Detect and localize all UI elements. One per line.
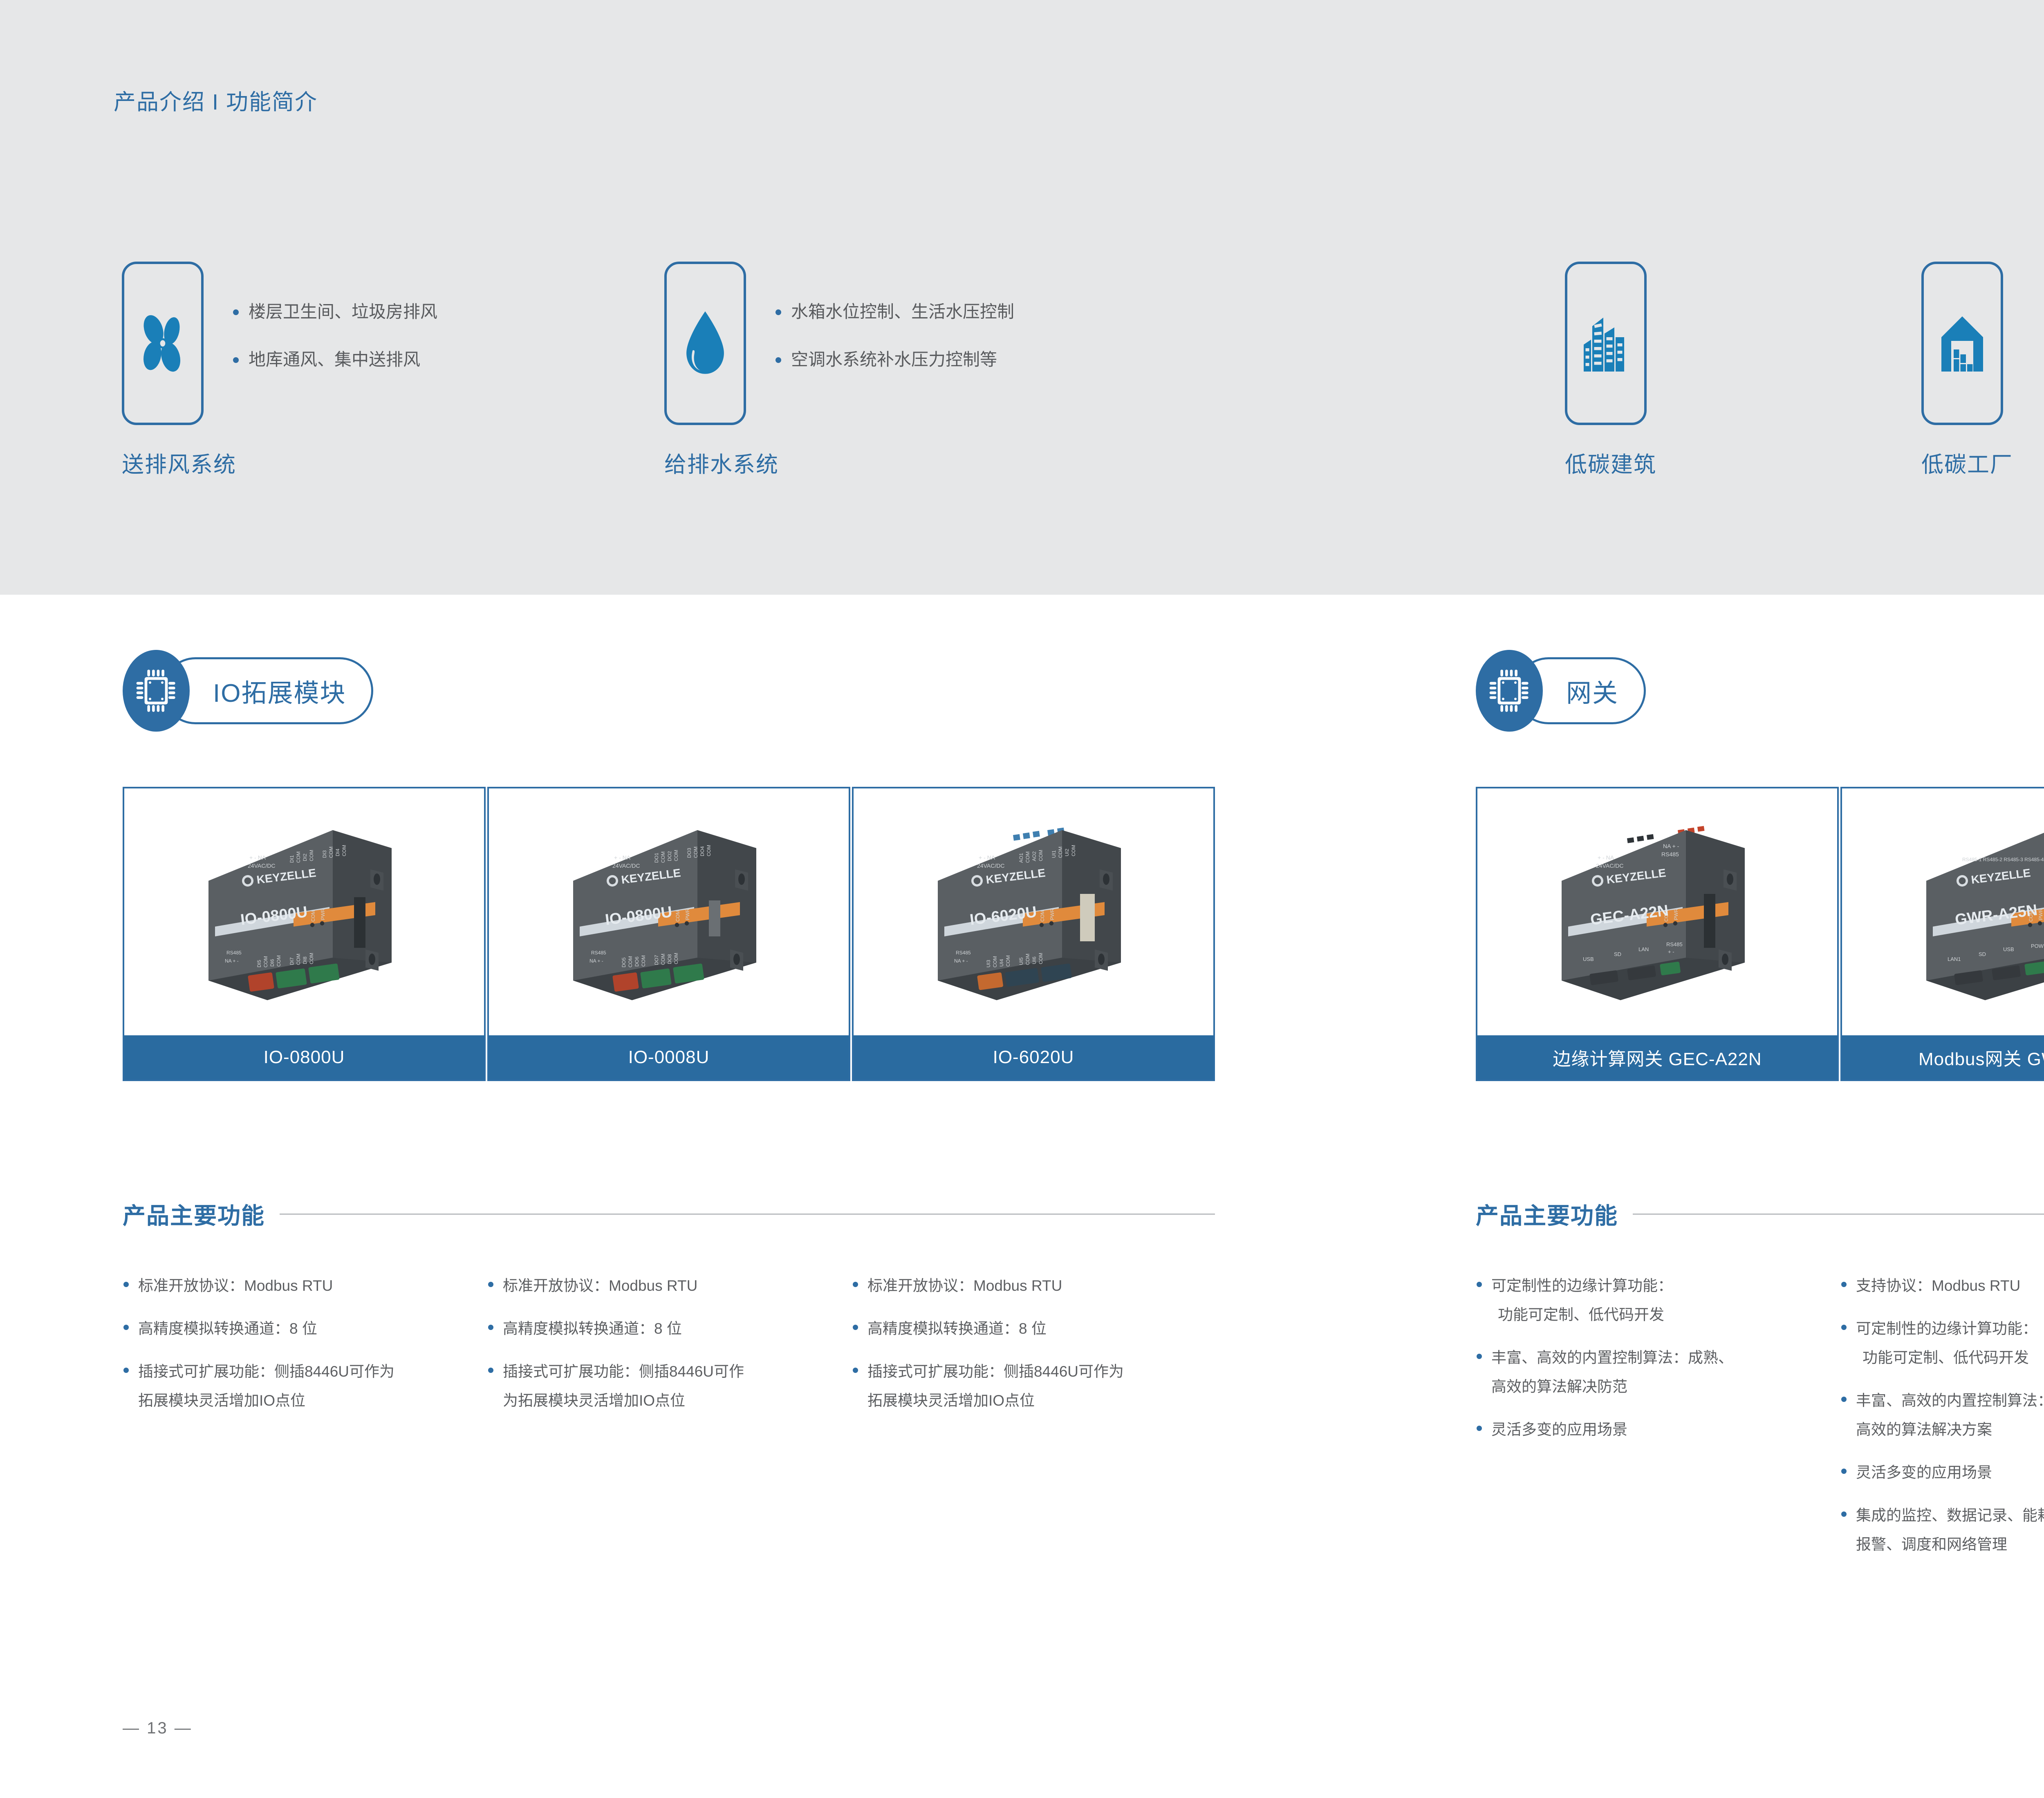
product-image: RS485-1 RS485-2 RS485-3 RS485-4 LAN1 SD … [1842, 788, 2044, 1035]
list-item: 可定制性的边缘计算功能： 功能可定制、低代码开发 [1840, 1314, 2044, 1372]
svg-text:COM: COM [992, 956, 998, 967]
svg-text:COM: COM [1038, 850, 1044, 861]
svg-text:POWER: POWER [2031, 943, 2044, 949]
list-item: 地库通风、集中送排风 [231, 346, 437, 373]
office-buildings-icon [1580, 313, 1632, 374]
svg-text:COM: COM [296, 954, 301, 965]
svg-text:COM: COM [660, 851, 666, 863]
list-item: 灵活多变的应用场景 [1476, 1415, 1836, 1444]
svg-text:UI4: UI4 [999, 959, 1004, 967]
svg-text:LAN: LAN [1638, 946, 1649, 952]
brochure-page: 产品介绍 I 功能简介 产品介绍 I 功能简介 楼层卫生间、垃圾房排风 地库通风… [0, 0, 2044, 1798]
list-item-line: 插接式可扩展功能：侧插8446U可作为 [138, 1357, 482, 1386]
chip-icon [136, 668, 177, 713]
scenario-ventilation-bullets: 楼层卫生间、垃圾房排风 地库通风、集中送排风 [231, 298, 437, 394]
list-item-line: 高效的算法解决方案 [1856, 1415, 2044, 1444]
fan-icon [134, 311, 191, 376]
svg-text:+ - NA: + - NA [249, 854, 266, 861]
svg-text:COM: COM [309, 850, 314, 861]
list-item-line: 拓展模块灵活增加IO点位 [867, 1386, 1212, 1415]
list-item-line: 高效的算法解决防范 [1491, 1372, 1836, 1401]
device-photo-io-6020u: + - NA 24VAC/DC RS485 NA + - AO1 COM AO2… [899, 806, 1168, 1018]
section-badge-pill-io: IO拓展模块 [162, 657, 373, 724]
svg-text:DI8: DI8 [302, 956, 308, 964]
list-item-line: 拓展模块灵活增加IO点位 [138, 1386, 482, 1415]
fan-icon-frame [122, 262, 204, 425]
list-item: 空调水系统补水压力控制等 [774, 346, 1014, 373]
list-item: 集成的监控、数据记录、能耗计量、 报警、调度和网络管理 [1840, 1501, 2044, 1559]
page-header-left: 产品介绍 I 功能简介 [114, 84, 318, 116]
svg-text:COM: COM [641, 955, 646, 967]
product-image: + - NA 24VAC/DC RS485 NA + - DO1 COM DO2… [489, 788, 849, 1035]
svg-text:DO5: DO5 [621, 957, 627, 967]
svg-text:NA + -: NA + - [589, 958, 603, 964]
svg-text:24VAC/DC: 24VAC/DC [977, 862, 1004, 869]
svg-text:COM: COM [673, 953, 679, 964]
features-title: 产品主要功能 [123, 1198, 265, 1231]
svg-text:24VAC/DC: 24VAC/DC [248, 862, 275, 869]
svg-text:DO6: DO6 [634, 956, 640, 967]
category-building-caption: 低碳建筑 [1565, 446, 1656, 479]
svg-text:24VAC/DC: 24VAC/DC [612, 862, 640, 869]
section-badge-label: 网关 [1566, 672, 1618, 709]
svg-text:RS485: RS485 [226, 950, 242, 956]
divider [1633, 1214, 2044, 1215]
svg-text:PWR: PWR [2038, 909, 2044, 920]
feature-column: 可定制性的边缘计算功能： 功能可定制、低代码开发 丰富、高效的内置控制算法：成熟… [1476, 1271, 1836, 1458]
svg-text:PWR: PWR [1673, 909, 1679, 920]
list-item-line: 为拓展模块灵活增加IO点位 [503, 1386, 847, 1415]
svg-text:USB: USB [1583, 956, 1594, 962]
product-card[interactable]: + - NA 24VAC/DC RS485 NA + - DO1 COM DO2… [487, 787, 850, 1081]
list-item: 标准开放协议：Modbus RTU [487, 1271, 847, 1300]
svg-text:COM: COM [1025, 954, 1031, 965]
list-item: 丰富、高效的内置控制算法：成熟、 高效的算法解决防范 [1476, 1343, 1836, 1401]
svg-text:DO4: DO4 [699, 846, 705, 856]
list-item-line: 插接式可扩展功能：侧插8446U可作 [503, 1357, 847, 1386]
list-item: 高精度模拟转换通道：8 位 [123, 1314, 482, 1343]
list-item: 标准开放协议：Modbus RTU [123, 1271, 482, 1300]
product-label: IO-6020U [854, 1035, 1213, 1079]
device-photo-io-0800u: + - NA 24VAC/DC RS485 NA + - DI1 COM DI2… [169, 806, 439, 1018]
device-photo-gec-a22n: + - NA 24VAC/DC NA + - RS485 USB SD LAN … [1522, 806, 1792, 1018]
product-card[interactable]: + - NA 24VAC/DC NA + - RS485 USB SD LAN … [1476, 787, 1839, 1081]
svg-text:COM: COM [706, 845, 712, 856]
svg-text:USB: USB [2003, 946, 2014, 952]
list-item-line: 可定制性的边缘计算功能： [1856, 1314, 2044, 1343]
svg-text:COM: COM [309, 953, 314, 964]
svg-text:NA + -: NA + - [225, 958, 239, 964]
svg-text:UI6: UI6 [1031, 956, 1037, 964]
svg-text:PWR: PWR [685, 909, 690, 920]
product-label: IO-0008U [489, 1035, 849, 1079]
svg-text:UI2: UI2 [1064, 849, 1070, 856]
list-item: 支持协议：Modbus RTU [1840, 1271, 2044, 1300]
svg-text:COM: COM [673, 850, 679, 861]
svg-text:COM: COM [328, 846, 334, 858]
svg-text:DI5: DI5 [256, 960, 262, 967]
chip-circle [1476, 650, 1543, 732]
svg-text:PWR: PWR [320, 909, 326, 920]
svg-text:DO8: DO8 [667, 954, 672, 964]
svg-text:COM: COM [1071, 845, 1076, 856]
svg-text:COM: COM [263, 956, 269, 967]
list-item-line: 集成的监控、数据记录、能耗计量、 [1856, 1501, 2044, 1530]
feature-column: 标准开放协议：Modbus RTU 高精度模拟转换通道：8 位 插接式可扩展功能… [852, 1271, 1212, 1429]
svg-text:DI2: DI2 [302, 853, 308, 861]
svg-text:+ - NA: + - NA [1598, 854, 1614, 861]
svg-text:NA + -: NA + - [1663, 843, 1679, 849]
list-item-line: 丰富、高效的内置控制算法：成熟、 [1491, 1343, 1836, 1372]
svg-text:COM: COM [1038, 953, 1044, 964]
factory-icon [1938, 313, 1987, 374]
product-image: + - NA 24VAC/DC NA + - RS485 USB SD LAN … [1477, 788, 1837, 1035]
svg-text:RS485: RS485 [956, 950, 971, 956]
svg-text:AO1: AO1 [1018, 853, 1024, 863]
feature-column: 标准开放协议：Modbus RTU 高精度模拟转换通道：8 位 插接式可扩展功能… [487, 1271, 847, 1429]
svg-text:DO1: DO1 [654, 853, 659, 863]
scenario-ventilation-caption: 送排风系统 [122, 446, 236, 479]
svg-text:COM: COM [675, 910, 681, 922]
product-image: + - NA 24VAC/DC RS485 NA + - AO1 COM AO2… [854, 788, 1213, 1035]
water-drop-icon [681, 309, 730, 378]
svg-text:DO7: DO7 [654, 955, 659, 965]
list-item-line: 丰富、高效的内置控制算法：成熟、 [1856, 1386, 2044, 1415]
svg-text:COM: COM [341, 845, 347, 856]
product-card[interactable]: + - NA 24VAC/DC RS485 NA + - DI1 COM DI2… [123, 787, 486, 1081]
product-label: IO-0800U [124, 1035, 484, 1079]
list-item-line: 功能可定制、低代码开发 [1491, 1300, 1836, 1329]
features-heading-io: 产品主要功能 [123, 1198, 1215, 1231]
feature-column: 标准开放协议：Modbus RTU 高精度模拟转换通道：8 位 插接式可扩展功能… [123, 1271, 482, 1429]
device-photo-gwr-a25n: RS485-1 RS485-2 RS485-3 RS485-4 LAN1 SD … [1887, 806, 2044, 1018]
svg-text:COM: COM [693, 846, 699, 858]
list-item: 丰富、高效的内置控制算法：成熟、 高效的算法解决方案 [1840, 1386, 2044, 1444]
svg-text:COM: COM [310, 910, 316, 922]
list-item: 高精度模拟转换通道：8 位 [852, 1314, 1212, 1343]
svg-text:AO2: AO2 [1031, 851, 1037, 861]
chip-circle [123, 650, 190, 732]
svg-text:DI4: DI4 [335, 849, 341, 856]
svg-text:+ -: + - [1668, 949, 1674, 955]
product-card[interactable]: RS485-1 RS485-2 RS485-3 RS485-4 LAN1 SD … [1840, 787, 2044, 1081]
svg-text:UI1: UI1 [1051, 850, 1057, 858]
svg-text:COM: COM [1005, 955, 1011, 967]
list-item: 可定制性的边缘计算功能： 功能可定制、低代码开发 [1476, 1271, 1836, 1329]
list-item: 灵活多变的应用场景 [1840, 1458, 2044, 1487]
product-image: + - NA 24VAC/DC RS485 NA + - DI1 COM DI2… [124, 788, 484, 1035]
svg-text:RS485: RS485 [1661, 851, 1679, 858]
svg-text:COM: COM [1040, 910, 1045, 922]
scenario-water-bullets: 水箱水位控制、生活水压控制 空调水系统补水压力控制等 [774, 298, 1014, 394]
scenario-water-caption: 给排水系统 [664, 446, 779, 479]
chip-icon [1489, 668, 1530, 713]
svg-text:24VAC/DC: 24VAC/DC [1596, 862, 1623, 869]
svg-text:DI1: DI1 [289, 855, 295, 863]
svg-text:COM: COM [1058, 846, 1063, 858]
category-factory-caption: 低碳工厂 [1921, 446, 2013, 479]
list-item: 高精度模拟转换通道：8 位 [487, 1314, 847, 1343]
factory-icon-frame [1921, 262, 2003, 425]
features-title: 产品主要功能 [1476, 1198, 1618, 1231]
svg-text:DI6: DI6 [269, 959, 275, 967]
svg-text:DO2: DO2 [667, 851, 672, 861]
svg-text:NA + -: NA + - [954, 958, 968, 964]
svg-text:COM: COM [1025, 851, 1031, 863]
product-card[interactable]: + - NA 24VAC/DC RS485 NA + - AO1 COM AO2… [852, 787, 1215, 1081]
list-item: 标准开放协议：Modbus RTU [852, 1271, 1212, 1300]
svg-text:COM: COM [276, 955, 282, 967]
divider [280, 1214, 1215, 1215]
product-label: Modbus网关 GWR-A25N [1842, 1035, 2044, 1079]
list-item-line: 报警、调度和网络管理 [1856, 1530, 2044, 1559]
svg-text:LAN1: LAN1 [1948, 956, 1961, 962]
svg-text:COM: COM [628, 956, 633, 967]
list-item: 插接式可扩展功能：侧插8446U可作为 拓展模块灵活增加IO点位 [123, 1357, 482, 1415]
svg-text:RS485-1 RS485-2 RS485-3 RS485-: RS485-1 RS485-2 RS485-3 RS485-4 [1962, 857, 2044, 862]
svg-text:RS485: RS485 [591, 950, 606, 956]
svg-text:UI3: UI3 [986, 960, 991, 967]
svg-text:SD: SD [1614, 951, 1621, 957]
list-item: 插接式可扩展功能：侧插8446U可作 为拓展模块灵活增加IO点位 [487, 1357, 847, 1415]
page-number-left: — 13 — [123, 1719, 193, 1738]
product-label: 边缘计算网关 GEC-A22N [1477, 1035, 1837, 1079]
list-item: 楼层卫生间、垃圾房排风 [231, 298, 437, 325]
svg-text:UI5: UI5 [1018, 957, 1024, 965]
svg-text:DO3: DO3 [686, 848, 692, 858]
list-item-line: 插接式可扩展功能：侧插8446U可作为 [867, 1357, 1212, 1386]
list-item: 水箱水位控制、生活水压控制 [774, 298, 1014, 325]
svg-text:+ - NA: + - NA [979, 854, 995, 861]
svg-text:PWR: PWR [1049, 909, 1055, 920]
list-item: 插接式可扩展功能：侧插8446U可作为 拓展模块灵活增加IO点位 [852, 1357, 1212, 1415]
svg-text:COM: COM [660, 954, 666, 965]
section-badge-label: IO拓展模块 [213, 672, 346, 709]
svg-text:DI3: DI3 [322, 850, 327, 858]
feature-column: 支持协议：Modbus RTU 可定制性的边缘计算功能： 功能可定制、低代码开发… [1840, 1271, 2044, 1573]
water-drop-icon-frame [664, 262, 746, 425]
svg-text:COM: COM [296, 851, 301, 863]
list-item-line: 功能可定制、低代码开发 [1856, 1343, 2044, 1372]
svg-text:RS485: RS485 [1666, 941, 1683, 947]
device-photo-io-0008u: + - NA 24VAC/DC RS485 NA + - DO1 COM DO2… [534, 806, 804, 1018]
office-buildings-icon-frame [1565, 262, 1647, 425]
svg-text:DI7: DI7 [289, 957, 295, 965]
svg-text:SD: SD [1979, 951, 1986, 957]
list-item-line: 可定制性的边缘计算功能： [1491, 1271, 1836, 1300]
features-heading-gateway: 产品主要功能 [1476, 1198, 2044, 1231]
svg-text:+ - NA: + - NA [614, 854, 631, 861]
